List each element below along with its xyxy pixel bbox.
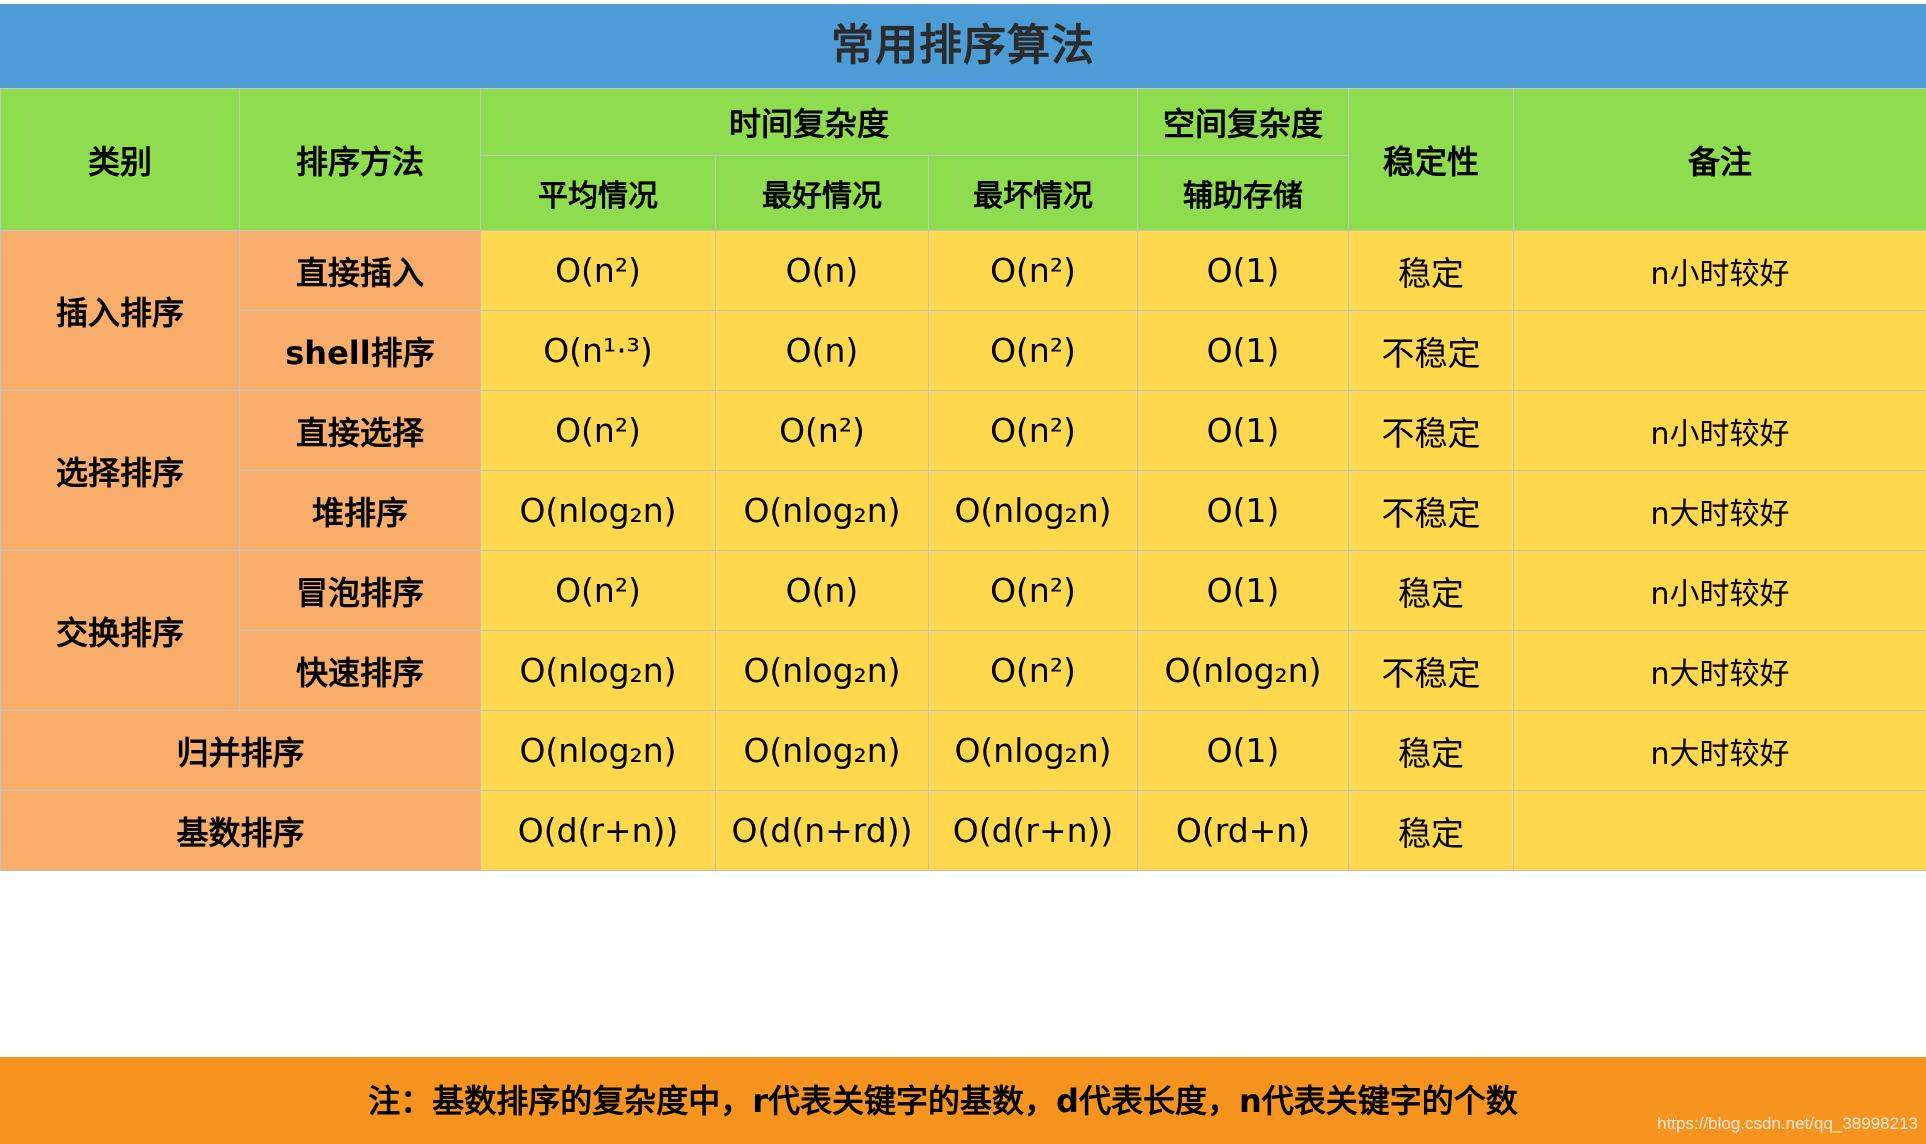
cell-worst: O(n²): [929, 231, 1138, 311]
cell-auxiliary: O(rd+n): [1138, 791, 1349, 871]
cell-worst: O(d(r+n)): [929, 791, 1138, 871]
cell-average: O(nlog₂n): [481, 711, 716, 791]
cell-remark: n大时较好: [1514, 631, 1926, 711]
cell-auxiliary: O(1): [1138, 551, 1349, 631]
cell-method: 直接插入: [240, 231, 481, 311]
cell-best: O(n): [716, 311, 929, 391]
cell-category: 基数排序: [1, 791, 481, 871]
table-row: 交换排序 冒泡排序 O(n²) O(n) O(n²) O(1) 稳定 n小时较好: [1, 551, 1926, 631]
cell-auxiliary: O(1): [1138, 711, 1349, 791]
table-row: 插入排序 直接插入 O(n²) O(n) O(n²) O(1) 稳定 n小时较好: [1, 231, 1926, 311]
table-row: shell排序 O(n¹·³) O(n) O(n²) O(1) 不稳定: [1, 311, 1926, 391]
header-average-case: 平均情况: [481, 156, 716, 231]
cell-stability: 不稳定: [1349, 391, 1514, 471]
cell-remark: [1514, 791, 1926, 871]
cell-stability: 稳定: [1349, 231, 1514, 311]
table-row: 快速排序 O(nlog₂n) O(nlog₂n) O(n²) O(nlog₂n)…: [1, 631, 1926, 711]
cell-worst: O(nlog₂n): [929, 711, 1138, 791]
cell-auxiliary: O(1): [1138, 471, 1349, 551]
cell-method: 快速排序: [240, 631, 481, 711]
header-auxiliary-storage: 辅助存储: [1138, 156, 1349, 231]
cell-auxiliary: O(1): [1138, 231, 1349, 311]
cell-best: O(nlog₂n): [716, 711, 929, 791]
header-worst-case: 最坏情况: [929, 156, 1138, 231]
header-time-complexity: 时间复杂度: [481, 89, 1138, 156]
table-row: 归并排序 O(nlog₂n) O(nlog₂n) O(nlog₂n) O(1) …: [1, 711, 1926, 791]
cell-category: 插入排序: [1, 231, 240, 391]
cell-best: O(n): [716, 551, 929, 631]
cell-remark: n大时较好: [1514, 471, 1926, 551]
cell-best: O(d(n+rd)): [716, 791, 929, 871]
cell-worst: O(n²): [929, 311, 1138, 391]
cell-stability: 不稳定: [1349, 311, 1514, 391]
cell-best: O(nlog₂n): [716, 631, 929, 711]
header-stability: 稳定性: [1349, 89, 1514, 231]
cell-stability: 稳定: [1349, 551, 1514, 631]
cell-worst: O(n²): [929, 551, 1138, 631]
cell-category: 交换排序: [1, 551, 240, 711]
footer-note-bar: 注：基数排序的复杂度中，r代表关键字的基数，d代表长度，n代表关键字的个数 ht…: [0, 1057, 1926, 1144]
cell-remark: n小时较好: [1514, 551, 1926, 631]
cell-average: O(nlog₂n): [481, 471, 716, 551]
cell-remark: n大时较好: [1514, 711, 1926, 791]
cell-stability: 稳定: [1349, 791, 1514, 871]
cell-stability: 不稳定: [1349, 631, 1514, 711]
cell-remark: [1514, 311, 1926, 391]
cell-best: O(n): [716, 231, 929, 311]
header-best-case: 最好情况: [716, 156, 929, 231]
cell-remark: n小时较好: [1514, 231, 1926, 311]
cell-best: O(nlog₂n): [716, 471, 929, 551]
cell-auxiliary: O(nlog₂n): [1138, 631, 1349, 711]
table-row: 选择排序 直接选择 O(n²) O(n²) O(n²) O(1) 不稳定 n小时…: [1, 391, 1926, 471]
cell-best: O(n²): [716, 391, 929, 471]
header-row-primary: 类别 排序方法 时间复杂度 空间复杂度 稳定性 备注: [1, 89, 1926, 156]
cell-worst: O(n²): [929, 391, 1138, 471]
cell-method: 冒泡排序: [240, 551, 481, 631]
cell-method: 堆排序: [240, 471, 481, 551]
page-title: 常用排序算法: [831, 25, 1095, 68]
cell-average: O(n¹·³): [481, 311, 716, 391]
cell-worst: O(nlog₂n): [929, 471, 1138, 551]
cell-category: 选择排序: [1, 391, 240, 551]
cell-method: 直接选择: [240, 391, 481, 471]
cell-average: O(n²): [481, 391, 716, 471]
cell-average: O(n²): [481, 551, 716, 631]
cell-average: O(d(r+n)): [481, 791, 716, 871]
footer-note: 注：基数排序的复杂度中，r代表关键字的基数，d代表长度，n代表关键字的个数: [368, 1085, 1517, 1117]
cell-method: shell排序: [240, 311, 481, 391]
header-space-complexity: 空间复杂度: [1138, 89, 1349, 156]
cell-category: 归并排序: [1, 711, 481, 791]
header-remark: 备注: [1514, 89, 1926, 231]
watermark: https://blog.csdn.net/qq_38998213: [1657, 1114, 1918, 1134]
cell-average: O(nlog₂n): [481, 631, 716, 711]
cell-auxiliary: O(1): [1138, 311, 1349, 391]
header-category: 类别: [1, 89, 240, 231]
cell-average: O(n²): [481, 231, 716, 311]
cell-auxiliary: O(1): [1138, 391, 1349, 471]
cell-worst: O(n²): [929, 631, 1138, 711]
cell-remark: n小时较好: [1514, 391, 1926, 471]
table-row: 基数排序 O(d(r+n)) O(d(n+rd)) O(d(r+n)) O(rd…: [1, 791, 1926, 871]
table-row: 堆排序 O(nlog₂n) O(nlog₂n) O(nlog₂n) O(1) 不…: [1, 471, 1926, 551]
sorting-algorithms-table-image: 常用排序算法 类别 排序方法 时间复杂度 空间复杂度 稳定性 备注 平均情况 最…: [0, 0, 1926, 1144]
cell-stability: 稳定: [1349, 711, 1514, 791]
header-method: 排序方法: [240, 89, 481, 231]
title-bar: 常用排序算法: [0, 4, 1926, 88]
complexity-table: 类别 排序方法 时间复杂度 空间复杂度 稳定性 备注 平均情况 最好情况 最坏情…: [0, 88, 1926, 871]
cell-stability: 不稳定: [1349, 471, 1514, 551]
